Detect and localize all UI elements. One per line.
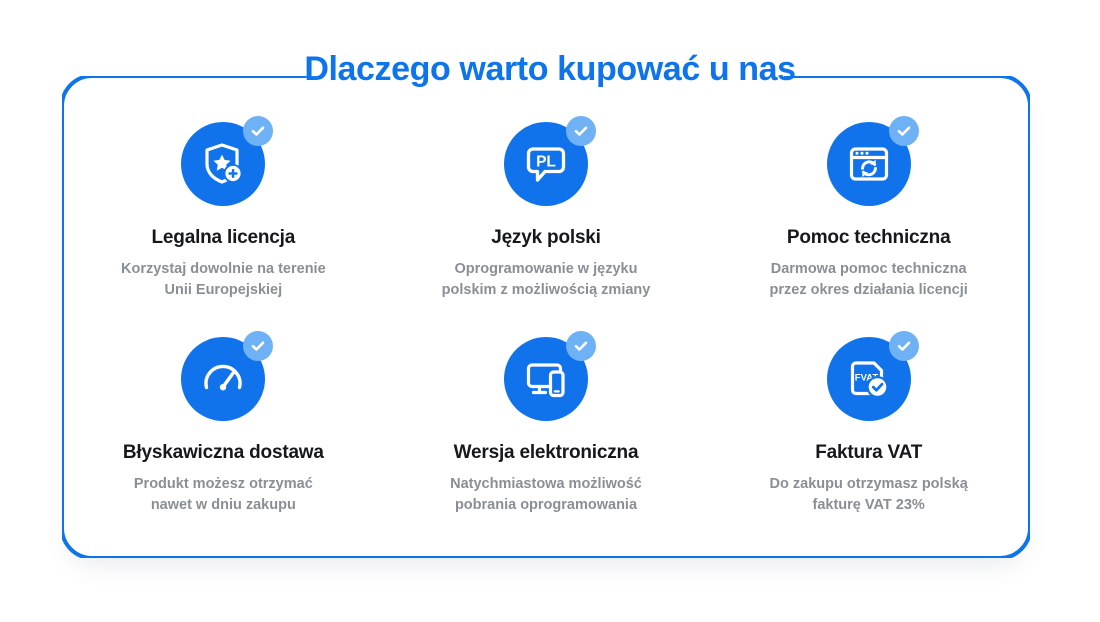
features-grid: Legalna licencja Korzystaj dowolnie na t… (62, 112, 1030, 542)
feature-title: Wersja elektroniczna (454, 442, 639, 464)
feature-description: Darmowa pomoc techniczna przez okres dzi… (770, 259, 968, 300)
feature-title: Legalna licencja (152, 227, 296, 249)
feature-description: Produkt możesz otrzymać nawet w dniu zak… (134, 474, 313, 515)
feature-description: Natychmiastowa możliwość pobrania oprogr… (450, 474, 642, 515)
icon-wrap (827, 122, 911, 206)
check-badge-icon (243, 116, 273, 146)
page-root: Dlaczego warto kupować u nas (0, 0, 1100, 622)
feature-item: Legalna licencja Korzystaj dowolnie na t… (62, 112, 385, 327)
pl-label: PL (536, 154, 556, 171)
check-badge-icon (566, 331, 596, 361)
feature-description: Oprogramowanie w języku polskim z możliw… (442, 259, 651, 300)
check-badge-icon (243, 331, 273, 361)
page-title: Dlaczego warto kupować u nas (0, 50, 1100, 89)
feature-title: Język polski (491, 227, 601, 249)
feature-item: Błyskawiczna dostawa Produkt możesz otrz… (62, 327, 385, 542)
feature-item: PL Język polski Oprogramowanie w języku … (385, 112, 708, 327)
check-badge-icon (889, 331, 919, 361)
icon-wrap (181, 337, 265, 421)
icon-wrap (504, 337, 588, 421)
feature-item: Wersja elektroniczna Natychmiastowa możl… (385, 327, 708, 542)
icon-wrap (181, 122, 265, 206)
check-badge-icon (566, 116, 596, 146)
feature-item: Pomoc techniczna Darmowa pomoc techniczn… (707, 112, 1030, 327)
feature-title: Faktura VAT (815, 442, 922, 464)
feature-description: Korzystaj dowolnie na terenie Unii Europ… (121, 259, 326, 300)
icon-wrap: FVAT (827, 337, 911, 421)
feature-title: Błyskawiczna dostawa (123, 442, 324, 464)
check-badge-icon (889, 116, 919, 146)
feature-item: FVAT Faktura VAT Do zakupu otrzymasz pol… (707, 327, 1030, 542)
feature-title: Pomoc techniczna (787, 227, 951, 249)
icon-wrap: PL (504, 122, 588, 206)
feature-description: Do zakupu otrzymasz polską fakturę VAT 2… (770, 474, 968, 515)
